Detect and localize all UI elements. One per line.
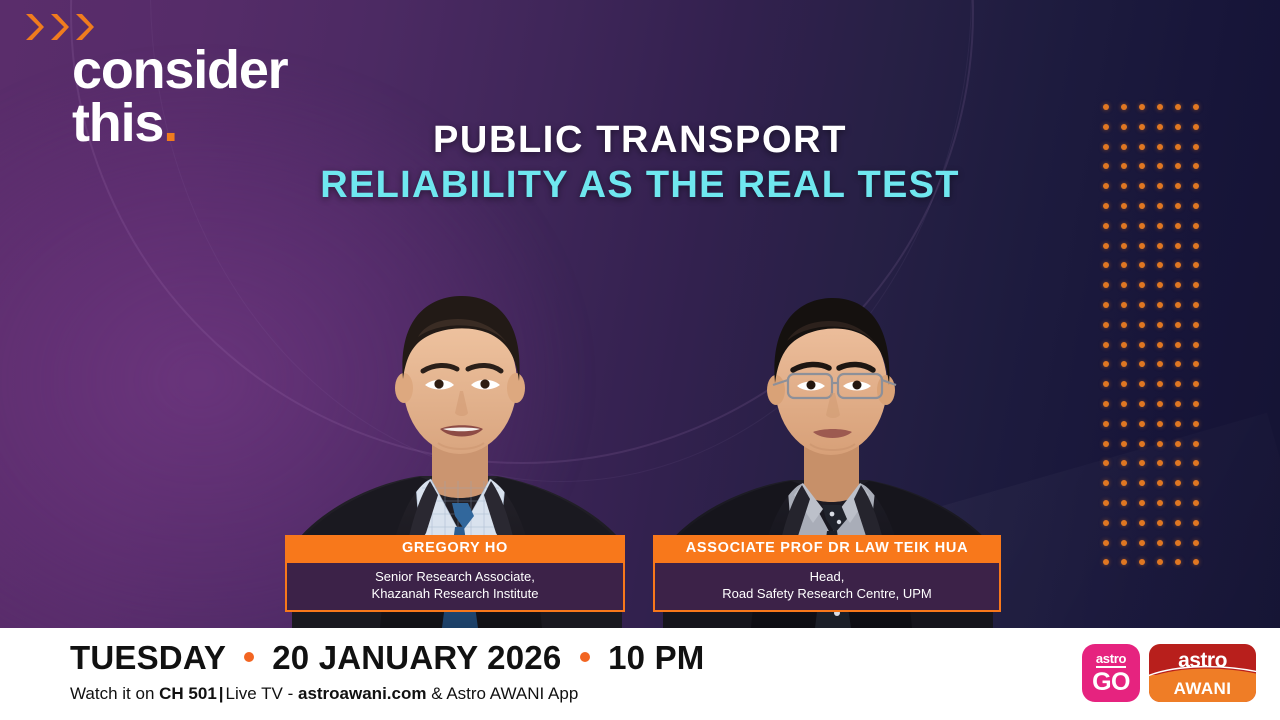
broadcast-promo-graphic: consider this. PUBLIC TRANSPORT RELIABIL… [0,0,1280,720]
watch-instructions: Watch it on CH 501|Live TV - astroawani.… [70,684,705,704]
schedule-day: TUESDAY [70,639,225,676]
brand-word-this: this [72,97,163,150]
chevron-right-icon [49,12,70,42]
live-tv-label: Live TV - [226,684,298,703]
speaker-name-2: ASSOCIATE PROF DR LAW TEIK HUA [653,535,1001,563]
watch-prefix: Watch it on [70,684,159,703]
astro-go-logo[interactable]: astro GO [1082,644,1140,702]
schedule-headline: TUESDAY 20 JANUARY 2026 10 PM [70,640,705,677]
schedule-date: 20 JANUARY 2026 [272,639,561,676]
separator-dot-icon [244,652,254,662]
speaker-role-1-line2: Khazanah Research Institute [293,585,617,603]
episode-title: PUBLIC TRANSPORT RELIABILITY AS THE REAL… [280,118,1000,208]
schedule-text-group: TUESDAY 20 JANUARY 2026 10 PM Watch it o… [70,640,705,704]
website-link[interactable]: astroawani.com [298,684,427,703]
title-line-2: RELIABILITY AS THE REAL TEST [280,163,1000,208]
pipe-separator: | [219,684,224,703]
schedule-time: 10 PM [608,639,704,676]
speaker-role-2-line1: Head, [661,568,993,586]
separator-dot-icon [580,652,590,662]
speaker-role-2-line2: Road Safety Research Centre, UPM [661,585,993,603]
awani-wordmark-awani: AWANI [1149,679,1256,699]
chevron-right-icon [74,12,95,42]
chevron-group [24,12,400,42]
title-line-1: PUBLIC TRANSPORT [280,118,1000,163]
awani-wordmark-astro: astro [1149,649,1256,673]
channel-number: CH 501 [159,684,217,703]
broadcast-info-bar: TUESDAY 20 JANUARY 2026 10 PM Watch it o… [0,628,1280,720]
brand-dot: . [163,97,177,150]
speaker-role-1-line1: Senior Research Associate, [293,568,617,586]
speaker-role-2: Head, Road Safety Research Centre, UPM [653,563,1001,613]
astro-go-wordmark-large: GO [1092,670,1130,695]
watch-suffix: & Astro AWANI App [426,684,578,703]
logo-group: astro GO astro AWANI [1082,644,1256,702]
brand-word-consider: consider [72,44,400,97]
speaker-role-1: Senior Research Associate, Khazanah Rese… [285,563,625,613]
chevron-right-icon [24,12,45,42]
astro-awani-logo[interactable]: astro AWANI [1149,644,1256,702]
astro-go-wordmark-small: astro [1096,652,1126,668]
speaker-name-1: GREGORY HO [285,535,625,563]
nameplate-speaker-2: ASSOCIATE PROF DR LAW TEIK HUA Head, Roa… [653,535,1001,612]
nameplate-speaker-1: GREGORY HO Senior Research Associate, Kh… [285,535,625,612]
dot-grid-pattern [1103,104,1211,579]
